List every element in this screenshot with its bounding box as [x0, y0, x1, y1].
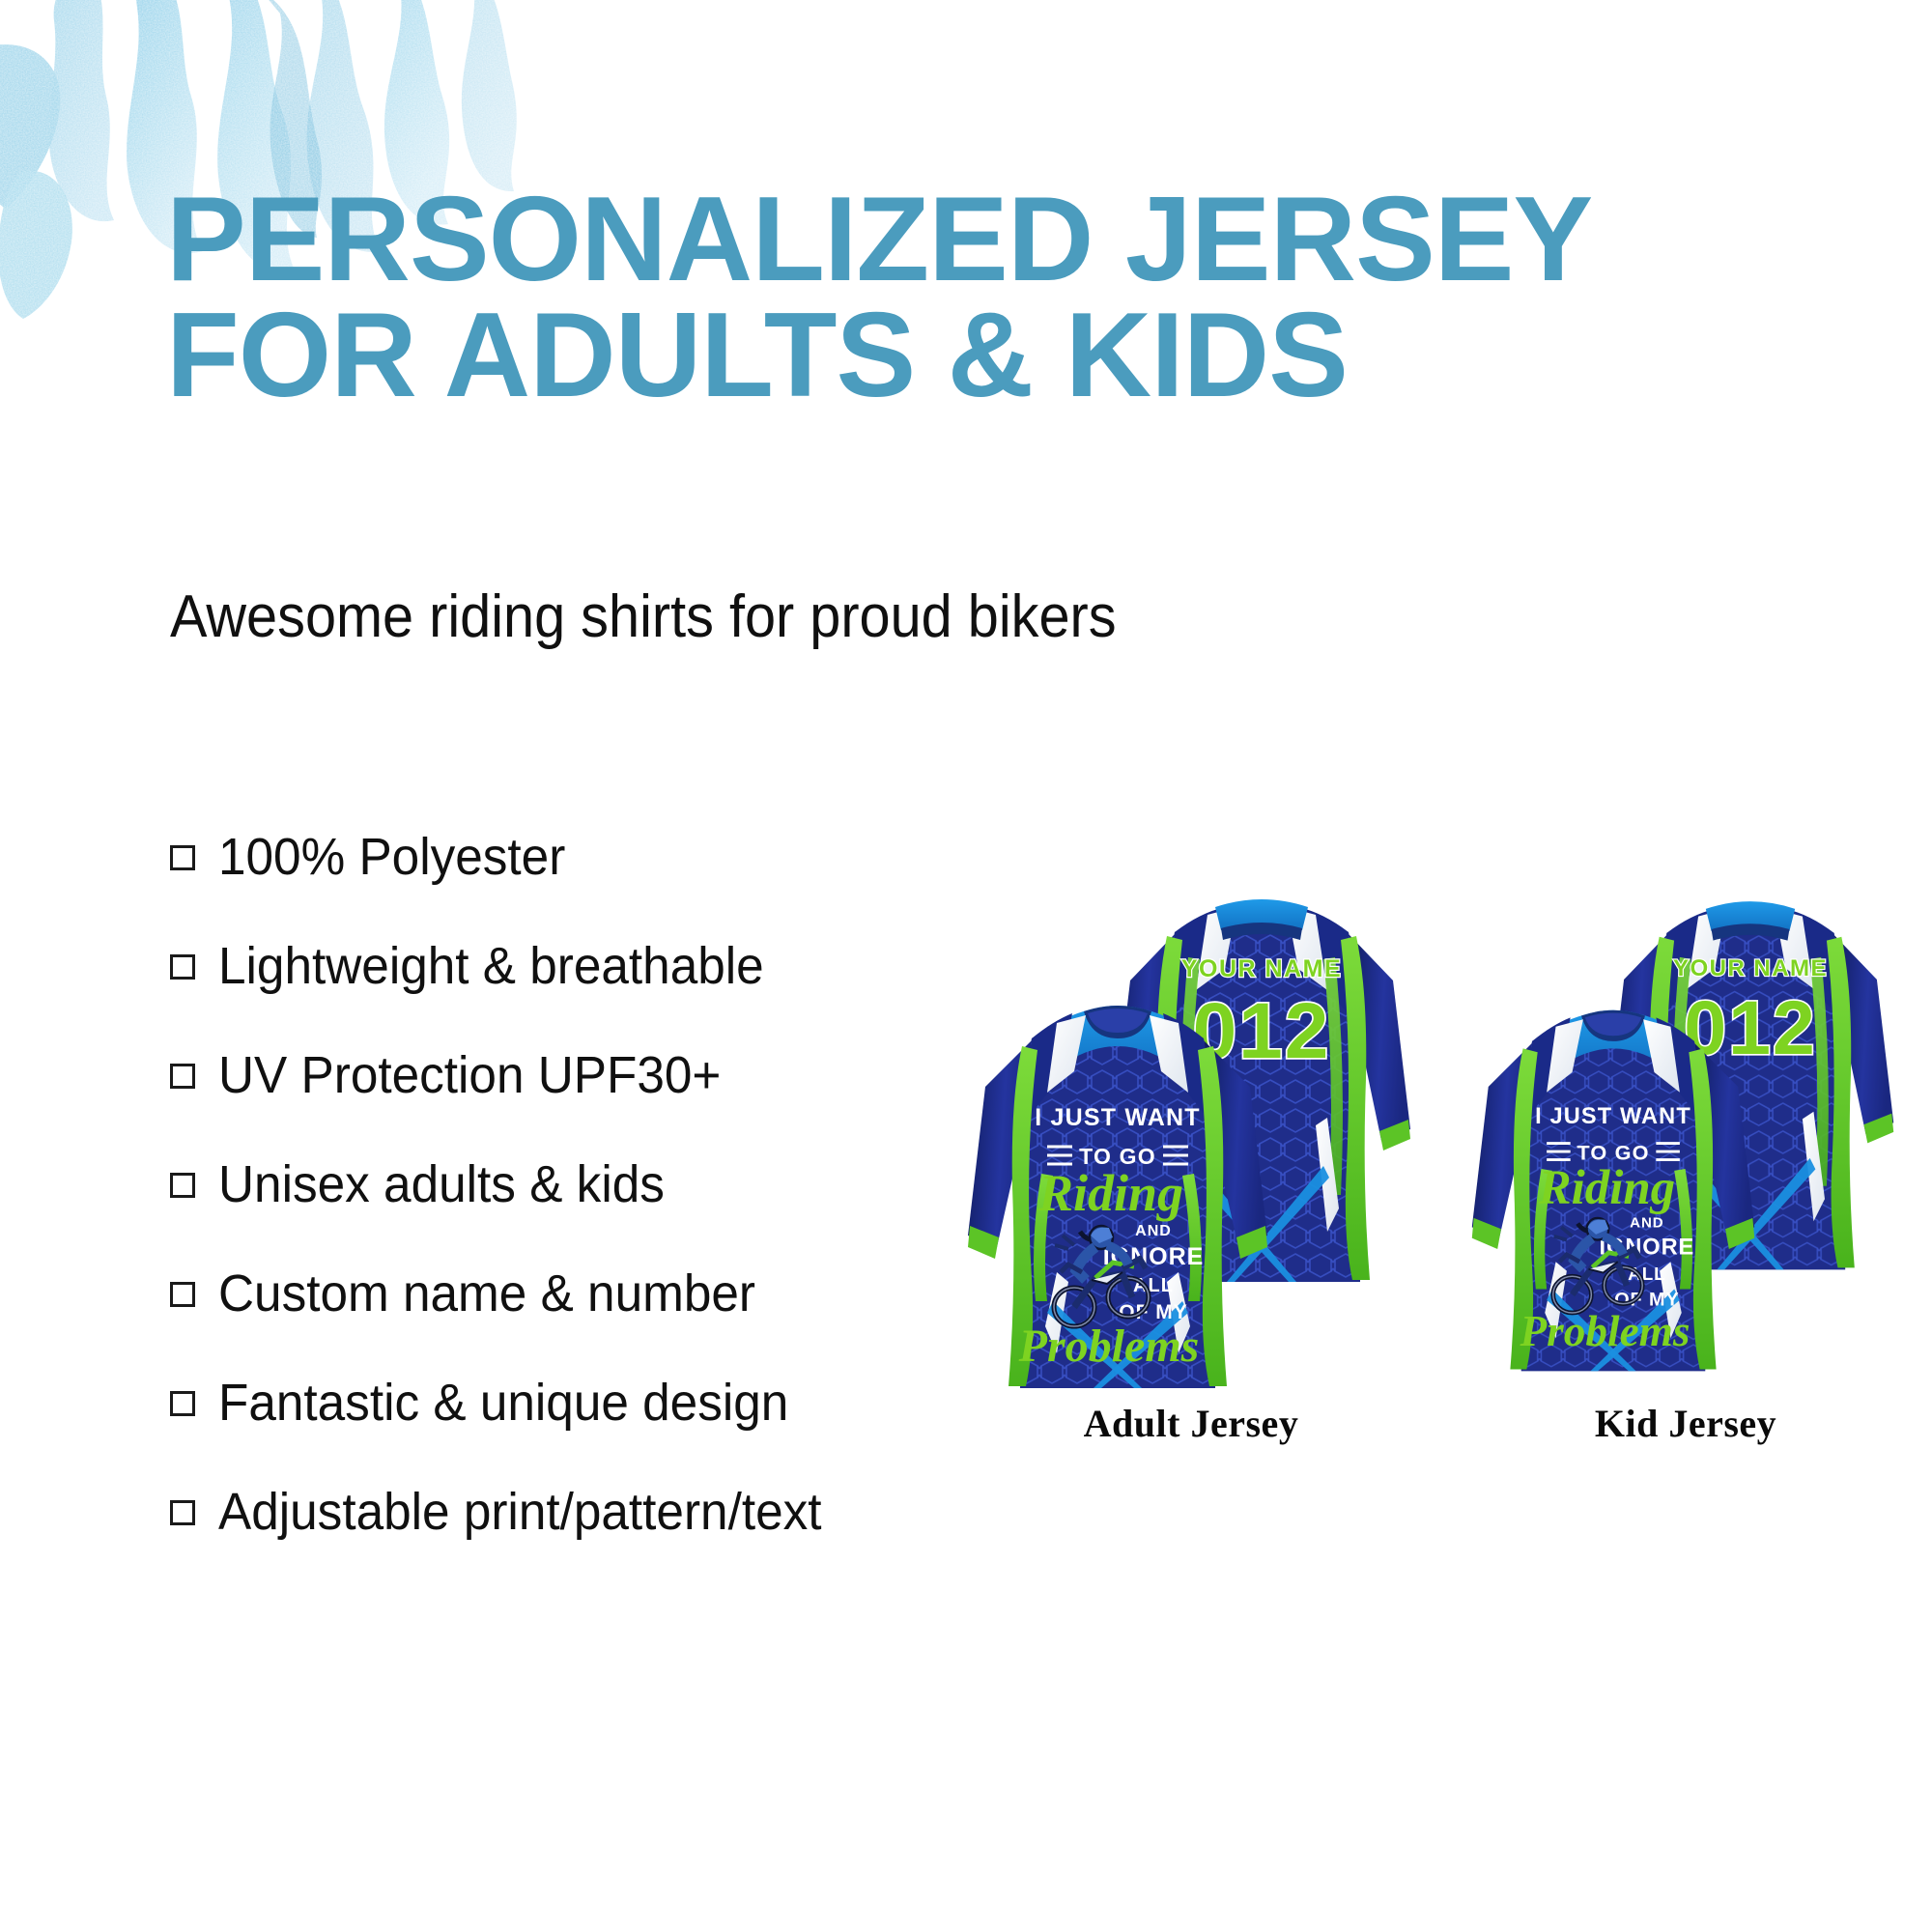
front-print-script-2: Problems	[1018, 1321, 1200, 1372]
feature-item: Fantastic & unique design	[170, 1348, 1039, 1457]
feature-label: Adjustable print/pattern/text	[218, 1482, 822, 1542]
adult-jersey-front-view: I JUST WANT TO GO Riding	[964, 982, 1271, 1398]
product-caption: Adult Jersey	[964, 1401, 1418, 1446]
empty-square-bullet-icon	[170, 1500, 195, 1525]
product-caption: Kid Jersey	[1468, 1401, 1903, 1446]
front-print-script-1: Riding	[1538, 1161, 1676, 1215]
product-kid-jersey: YOUR NAME 012	[1468, 874, 1903, 1401]
product-adult-jersey: YOUR NAME 012	[964, 874, 1418, 1401]
kid-jersey-stage: YOUR NAME 012	[1468, 874, 1903, 1401]
front-print-line-5: ALL	[1628, 1264, 1666, 1284]
feature-label: 100% Polyester	[218, 827, 565, 887]
feature-item: Unisex adults & kids	[170, 1129, 1039, 1238]
front-print-script-2: Problems	[1519, 1307, 1690, 1355]
empty-square-bullet-icon	[170, 1391, 195, 1416]
feature-label: Fantastic & unique design	[218, 1373, 788, 1433]
front-print-line-3: AND	[1630, 1214, 1664, 1231]
headline-line-1: PERSONALIZED JERSEY	[166, 182, 1789, 298]
feature-label: UV Protection UPF30+	[218, 1045, 721, 1105]
page-headline: PERSONALIZED JERSEY FOR ADULTS & KIDS	[166, 182, 1789, 414]
feature-list: 100% Polyester Lightweight & breathable …	[170, 802, 1039, 1566]
feature-item: Lightweight & breathable	[170, 911, 1039, 1020]
empty-square-bullet-icon	[170, 1064, 195, 1089]
product-showcase: YOUR NAME 012	[947, 874, 1922, 1492]
front-print-line-3: AND	[1135, 1223, 1172, 1239]
feature-item: UV Protection UPF30+	[170, 1020, 1039, 1129]
back-name-print: YOUR NAME	[1181, 955, 1342, 982]
adult-jersey-stage: YOUR NAME 012	[964, 874, 1418, 1401]
headline-line-2: FOR ADULTS & KIDS	[166, 298, 1789, 413]
empty-square-bullet-icon	[170, 1173, 195, 1198]
feature-label: Unisex adults & kids	[218, 1154, 665, 1214]
front-print-script-1: Riding	[1037, 1164, 1183, 1222]
empty-square-bullet-icon	[170, 845, 195, 870]
page-subtitle: Awesome riding shirts for proud bikers	[170, 584, 1117, 650]
empty-square-bullet-icon	[170, 1282, 195, 1307]
feature-item: 100% Polyester	[170, 802, 1039, 911]
feature-item: Custom name & number	[170, 1238, 1039, 1348]
back-name-print: YOUR NAME	[1673, 955, 1828, 981]
feature-label: Lightweight & breathable	[218, 936, 764, 996]
front-print-line-1: I JUST WANT	[1535, 1103, 1691, 1128]
kid-jersey-front-view: I JUST WANT TO GO Riding	[1468, 988, 1758, 1380]
feature-item: Adjustable print/pattern/text	[170, 1457, 1039, 1566]
feature-label: Custom name & number	[218, 1264, 755, 1323]
empty-square-bullet-icon	[170, 954, 195, 980]
front-print-line-1: I JUST WANT	[1035, 1104, 1201, 1131]
